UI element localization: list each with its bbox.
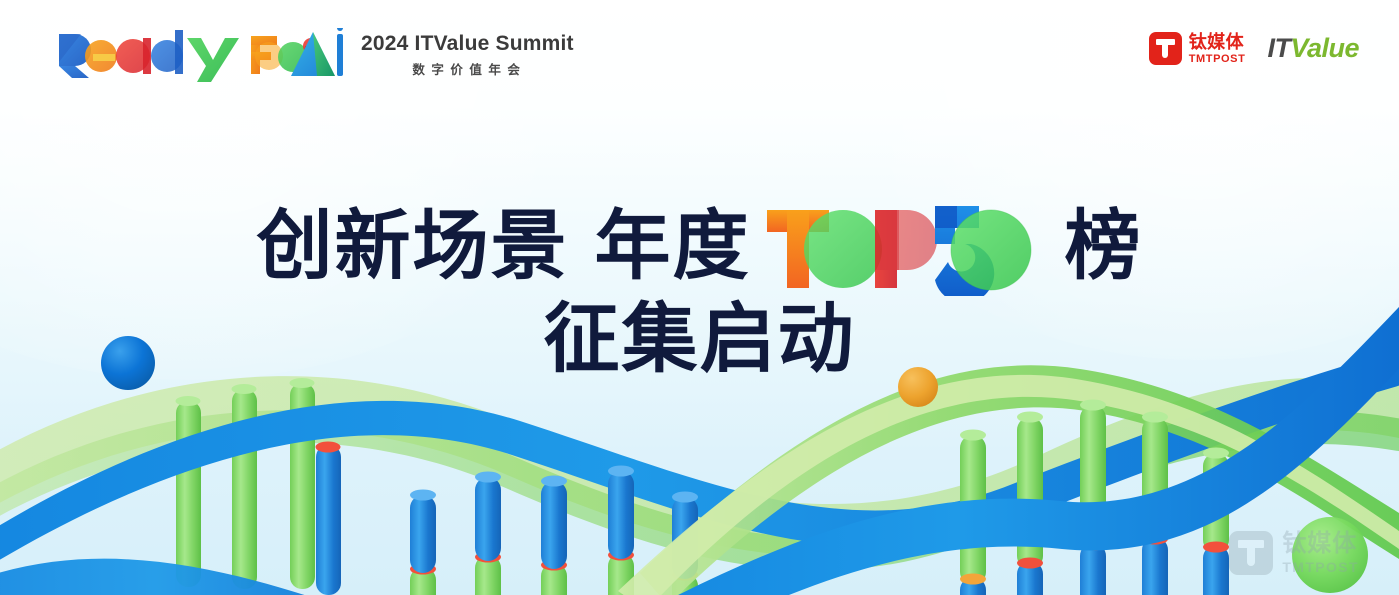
headline-line-1: 创新场景 年度: [0, 198, 1399, 294]
poster-canvas: 2024 ITValue Summit 数字价值年会 钛媒体 TMTPOST I…: [0, 0, 1399, 595]
green-sphere: [1292, 517, 1368, 593]
tmtpost-name-en: TMTPOST: [1189, 54, 1246, 65]
ready-for-ai-wordmark-icon: [55, 26, 317, 82]
tmtpost-t-mark-icon: [1149, 32, 1182, 65]
ready-for-ai-lockup: 2024 ITValue Summit 数字价值年会: [55, 26, 574, 82]
summit-title-en: 2024 ITValue Summit: [361, 32, 574, 56]
headline-line-2: 征集启动: [0, 296, 1399, 382]
itvalue-it-text: IT: [1267, 33, 1290, 64]
headline-part-innovation: 创新场景: [257, 208, 569, 284]
summit-title-block: 2024 ITValue Summit 数字价值年会: [361, 30, 574, 79]
poster-header: 2024 ITValue Summit 数字价值年会 钛媒体 TMTPOST I…: [0, 0, 1399, 108]
letter-P: [875, 210, 937, 288]
partner-logos: 钛媒体 TMTPOST IT Value: [1149, 32, 1359, 65]
tmtpost-logo[interactable]: 钛媒体 TMTPOST: [1149, 32, 1246, 65]
helix-ribbon-blue-tail: [0, 559, 420, 595]
headline-part-rank: 榜: [1065, 208, 1143, 284]
headline-block: 创新场景 年度: [0, 198, 1399, 382]
itvalue-logo[interactable]: IT Value: [1267, 33, 1359, 64]
headline-part-annual: 年度: [595, 208, 751, 284]
itvalue-value-text: Value: [1290, 33, 1359, 64]
tmtpost-name-cn: 钛媒体: [1189, 33, 1246, 51]
ai-triangle-icon: [287, 28, 345, 80]
top50-logo: [765, 200, 1055, 296]
letter-O: [804, 210, 882, 288]
headline-call-for-entries: 征集启动: [544, 301, 856, 377]
summit-title-cn: 数字价值年会: [361, 59, 574, 78]
top-50-graphic-icon: [765, 200, 1055, 296]
